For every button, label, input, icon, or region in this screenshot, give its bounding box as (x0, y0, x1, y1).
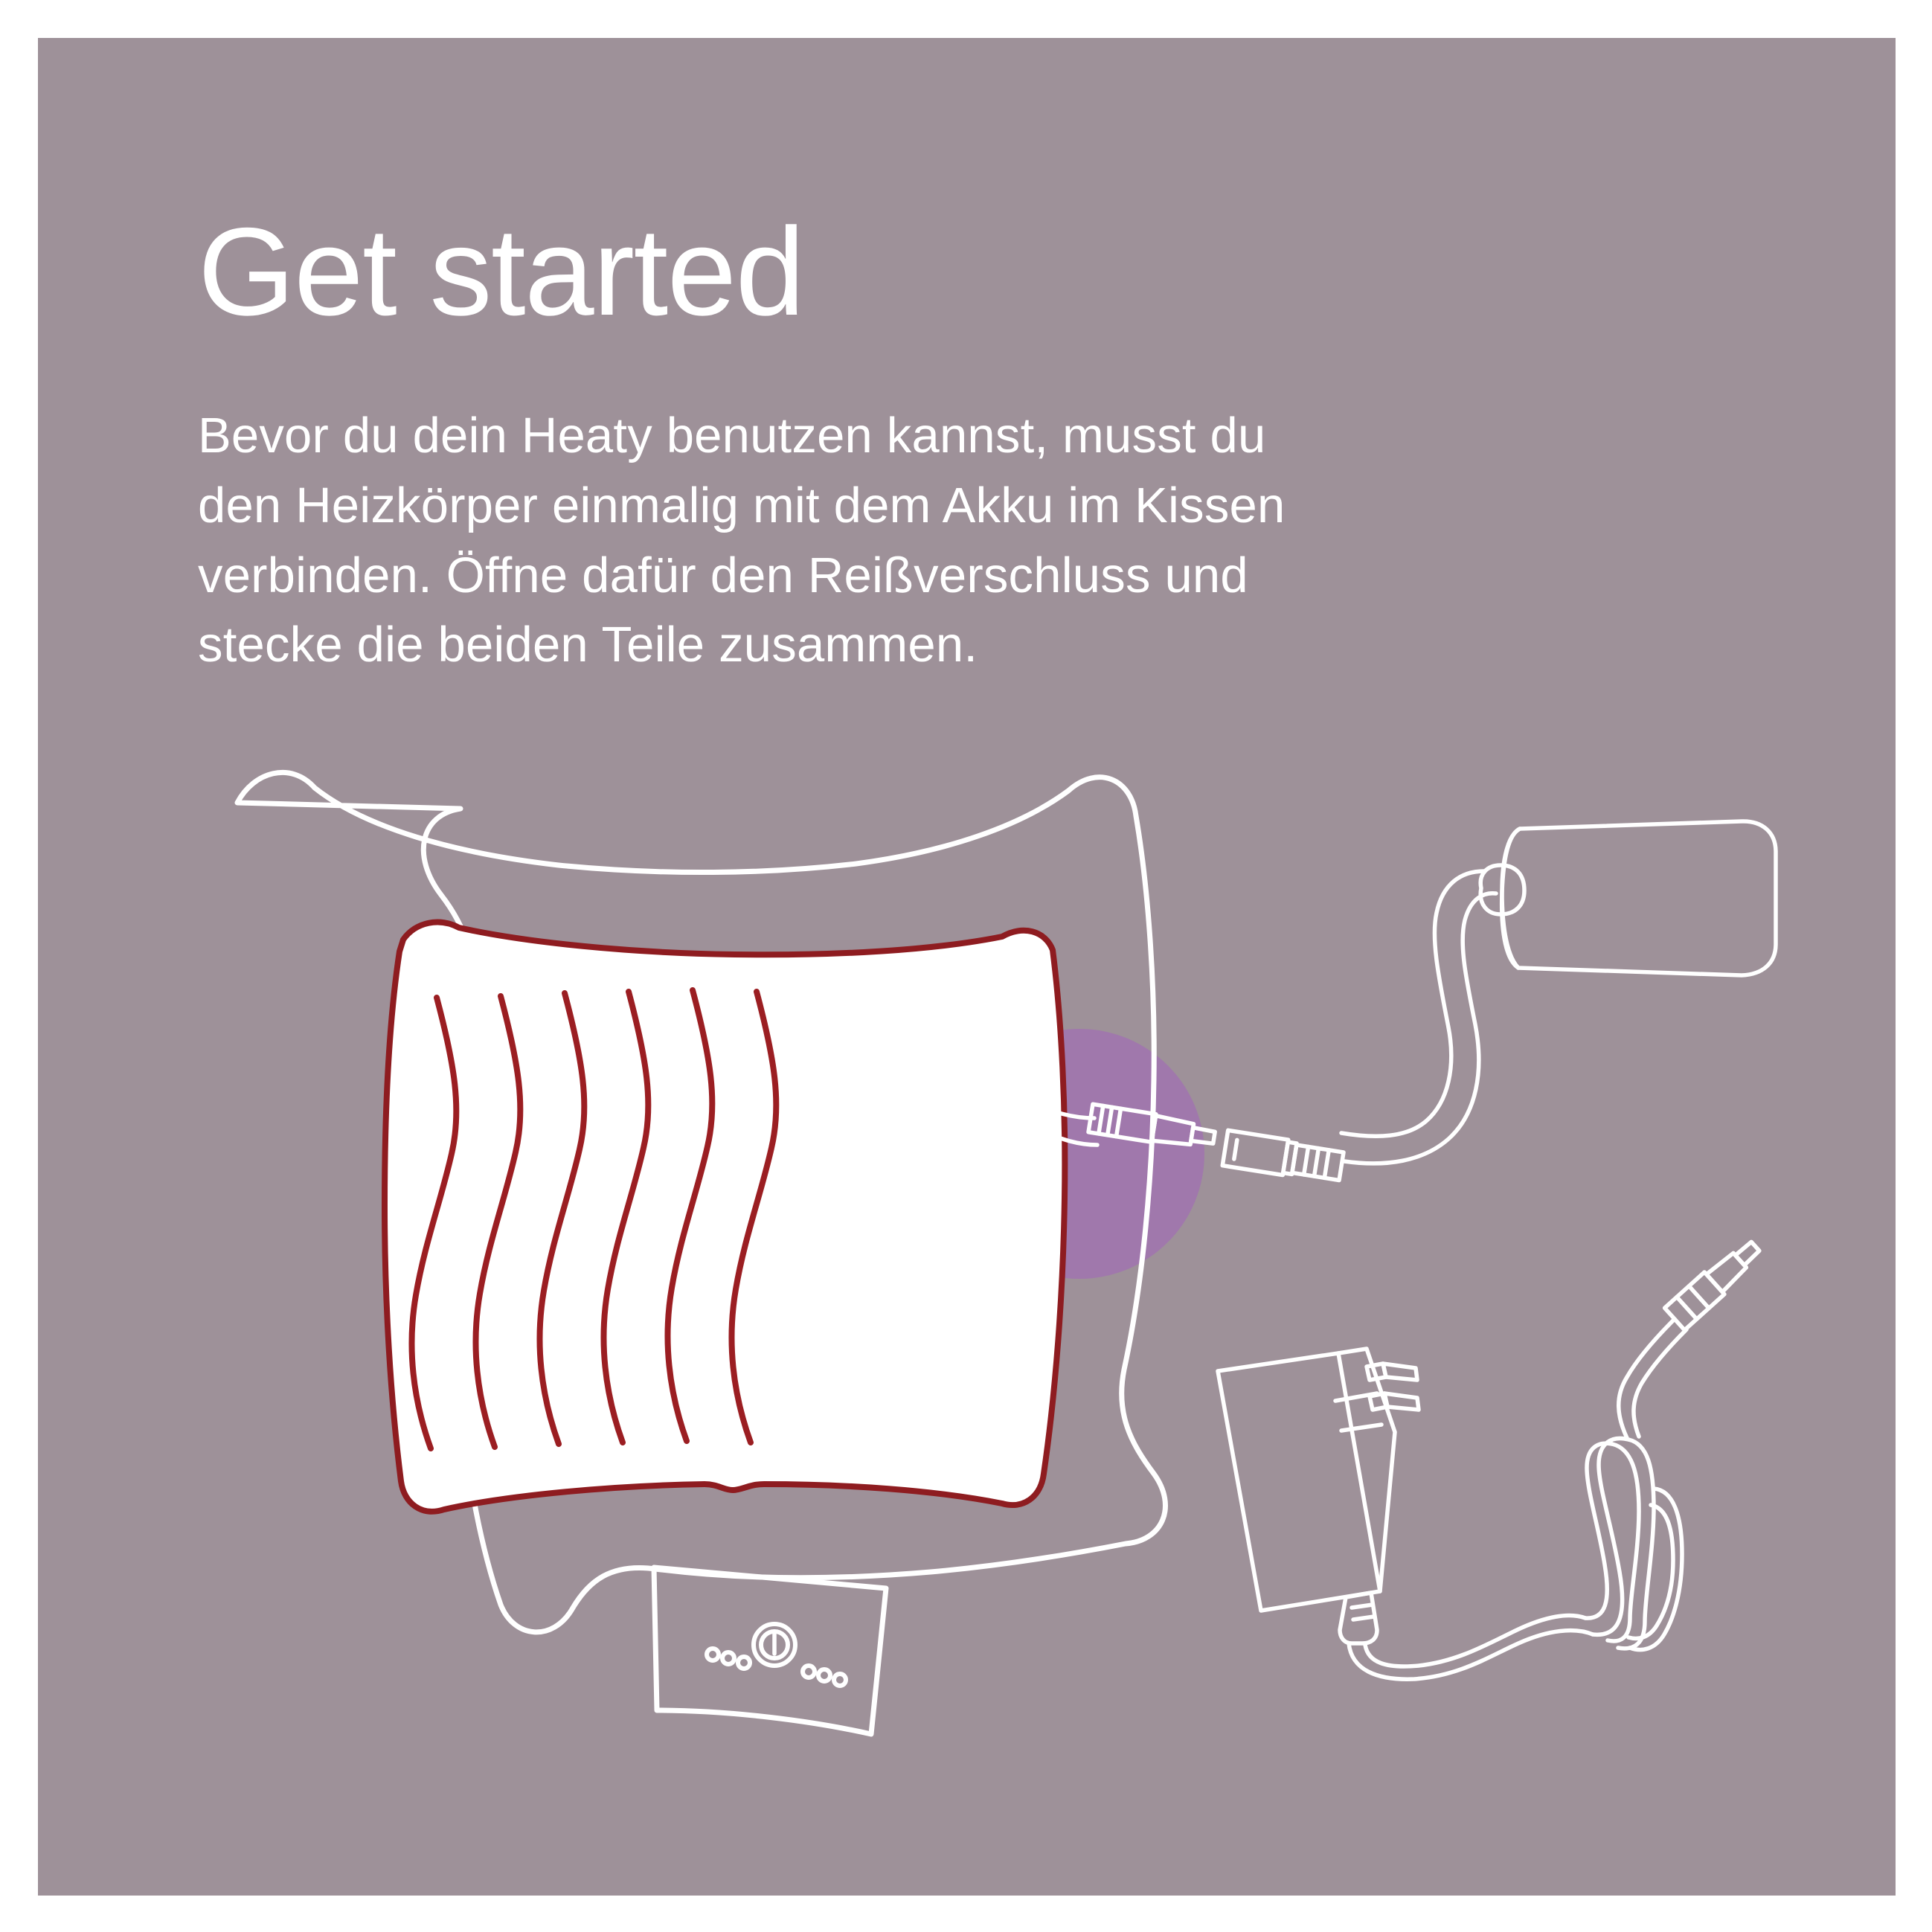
content-panel: Get started Bevor du dein Heaty benutzen… (38, 38, 1896, 1896)
led-dot (818, 1669, 830, 1681)
page-root: Get started Bevor du dein Heaty benutzen… (0, 0, 1932, 1932)
power-adapter (1218, 1349, 1419, 1643)
battery-cable (1341, 871, 1496, 1164)
power-button-icon (754, 1624, 795, 1666)
body-copy: Bevor du dein Heaty benutzen kannst, mus… (198, 334, 1537, 680)
body-line: stecke die beiden Teile zusammen. (198, 610, 1537, 680)
battery-pack (1480, 821, 1776, 975)
heating-pad (385, 922, 1065, 1512)
led-dot (707, 1649, 719, 1660)
text-block: Get started Bevor du dein Heaty benutzen… (198, 209, 1537, 680)
led-dot (722, 1652, 734, 1664)
page-title: Get started (198, 209, 1537, 334)
body-line: den Heizkörper einmalig mit dem Akku im … (198, 471, 1537, 541)
adapter-dc-plug (1665, 1235, 1765, 1329)
adapter-cable (1349, 1319, 1687, 1679)
body-line: Bevor du dein Heaty benutzen kannst, mus… (198, 401, 1537, 471)
body-line: verbinden. Öffne dafür den Reißverschlus… (198, 541, 1537, 611)
led-dot (803, 1666, 815, 1678)
led-dot (834, 1674, 846, 1686)
led-dot (738, 1657, 750, 1669)
control-unit (654, 1567, 886, 1734)
dc-jack-female (1222, 1130, 1344, 1184)
